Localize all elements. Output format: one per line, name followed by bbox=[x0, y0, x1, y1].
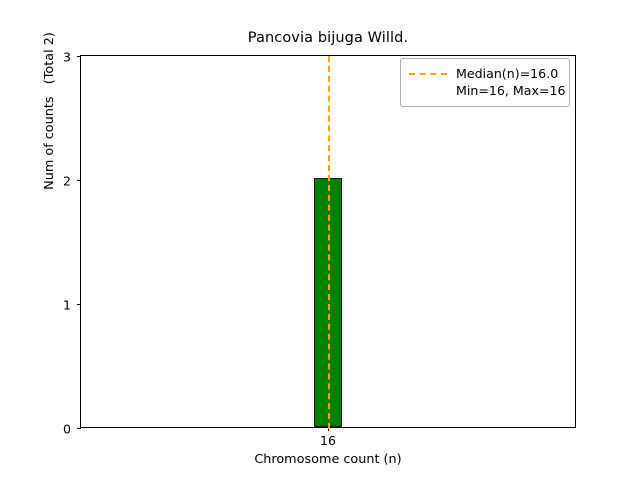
y-tick-label-1: 1 bbox=[63, 298, 71, 313]
y-tick-label-3: 3 bbox=[63, 50, 71, 65]
dashed-line-icon bbox=[409, 73, 447, 75]
median-line bbox=[328, 56, 330, 429]
figure-canvas: Pancovia bijuga Willd. Num of counts (To… bbox=[0, 0, 640, 480]
y-tick-1: 1 bbox=[77, 304, 81, 305]
y-tick-label-2: 2 bbox=[63, 174, 71, 189]
y-tick-0: 0 bbox=[77, 428, 81, 429]
y-tick-label-0: 0 bbox=[63, 422, 71, 437]
x-axis-label: Chromosome count (n) bbox=[80, 452, 576, 467]
y-tick-2: 2 bbox=[77, 180, 81, 181]
y-tick-3: 3 bbox=[77, 56, 81, 57]
legend-entry-minmax: Min=16, Max=16 bbox=[409, 82, 561, 99]
plot-area: 0 1 2 3 16 bbox=[80, 55, 576, 428]
chart-title: Pancovia bijuga Willd. bbox=[0, 30, 640, 46]
y-axis-label: Num of counts (Total 2) bbox=[42, 0, 57, 241]
legend: Median(n)=16.0 Min=16, Max=16 bbox=[400, 58, 570, 107]
legend-label-median: Median(n)=16.0 bbox=[456, 66, 558, 81]
chart-title-text: Pancovia bijuga Willd. bbox=[248, 30, 408, 46]
legend-entry-median: Median(n)=16.0 bbox=[409, 65, 561, 82]
legend-label-minmax: Min=16, Max=16 bbox=[456, 83, 566, 98]
x-tick-label-16: 16 bbox=[320, 433, 336, 448]
